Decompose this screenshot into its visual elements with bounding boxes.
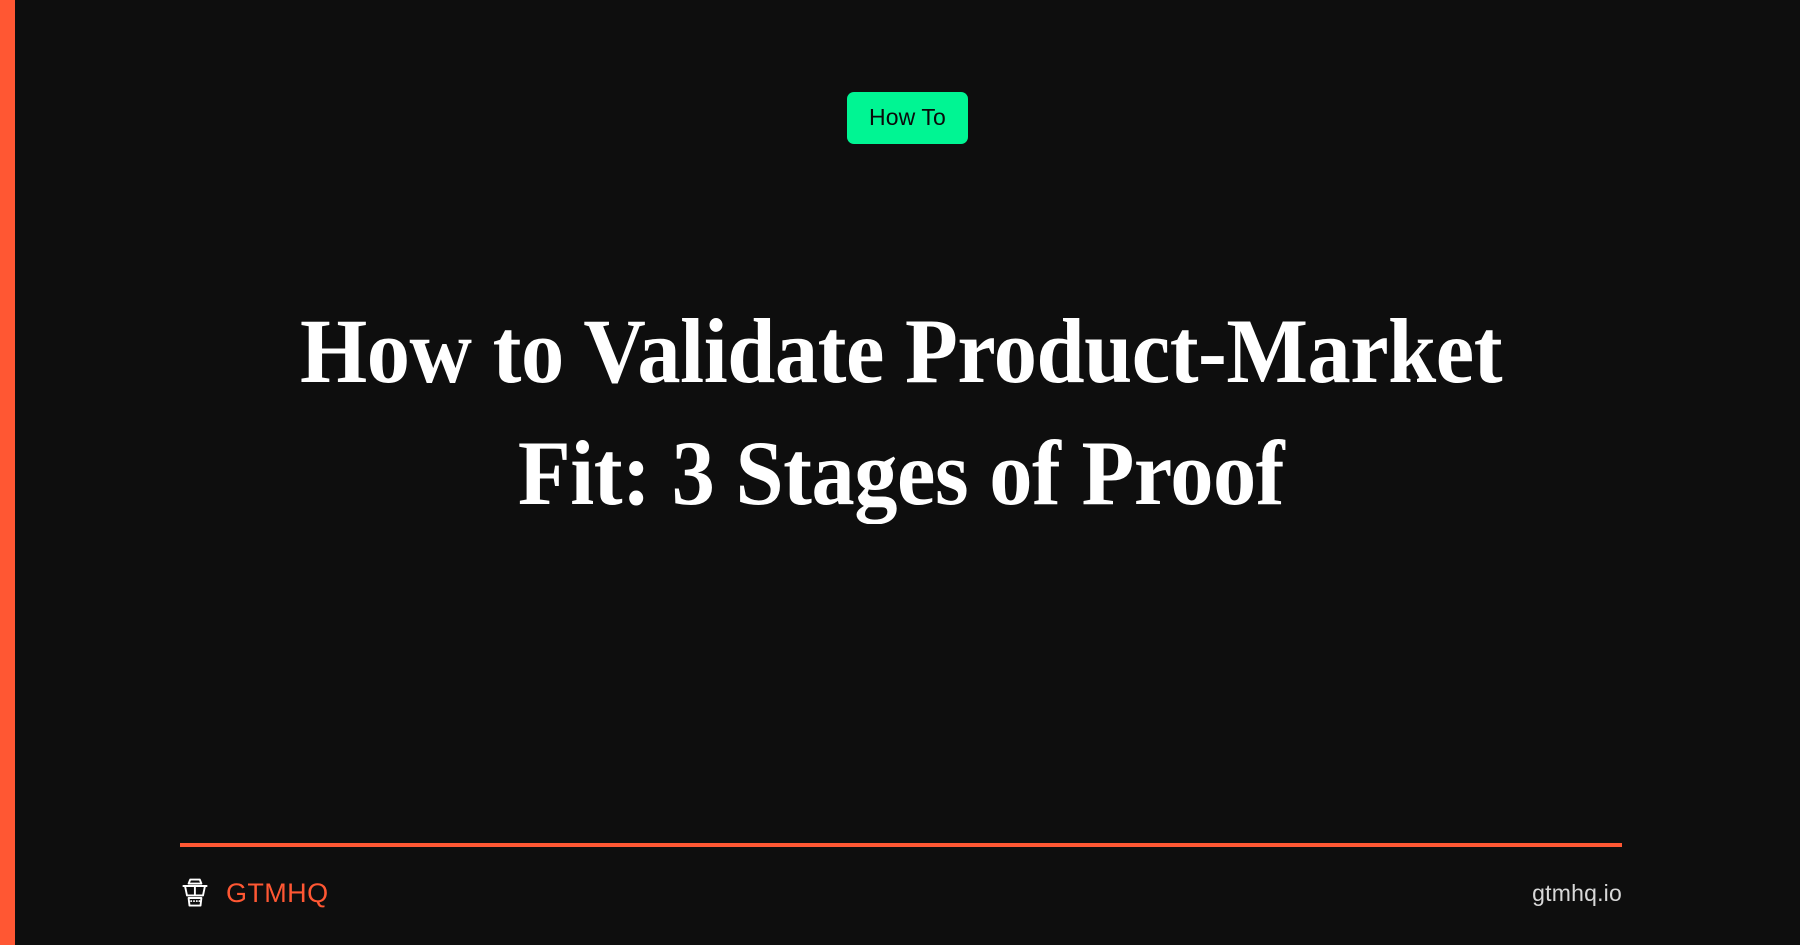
brand-name: GTMHQ bbox=[226, 880, 329, 907]
badge-row: How To bbox=[15, 92, 1800, 144]
control-tower-icon bbox=[180, 877, 210, 909]
footer: GTMHQ gtmhq.io bbox=[180, 865, 1622, 921]
footer-divider bbox=[180, 843, 1622, 847]
site-url[interactable]: gtmhq.io bbox=[1532, 882, 1622, 905]
brand-lockup[interactable]: GTMHQ bbox=[180, 877, 329, 909]
title-block: How to Validate Product-Market Fit: 3 St… bbox=[180, 290, 1622, 535]
slide-canvas: How To How to Validate Product-Market Fi… bbox=[0, 0, 1800, 945]
page-title: How to Validate Product-Market Fit: 3 St… bbox=[223, 290, 1578, 535]
left-accent-stripe bbox=[0, 0, 15, 945]
category-badge[interactable]: How To bbox=[847, 92, 968, 144]
